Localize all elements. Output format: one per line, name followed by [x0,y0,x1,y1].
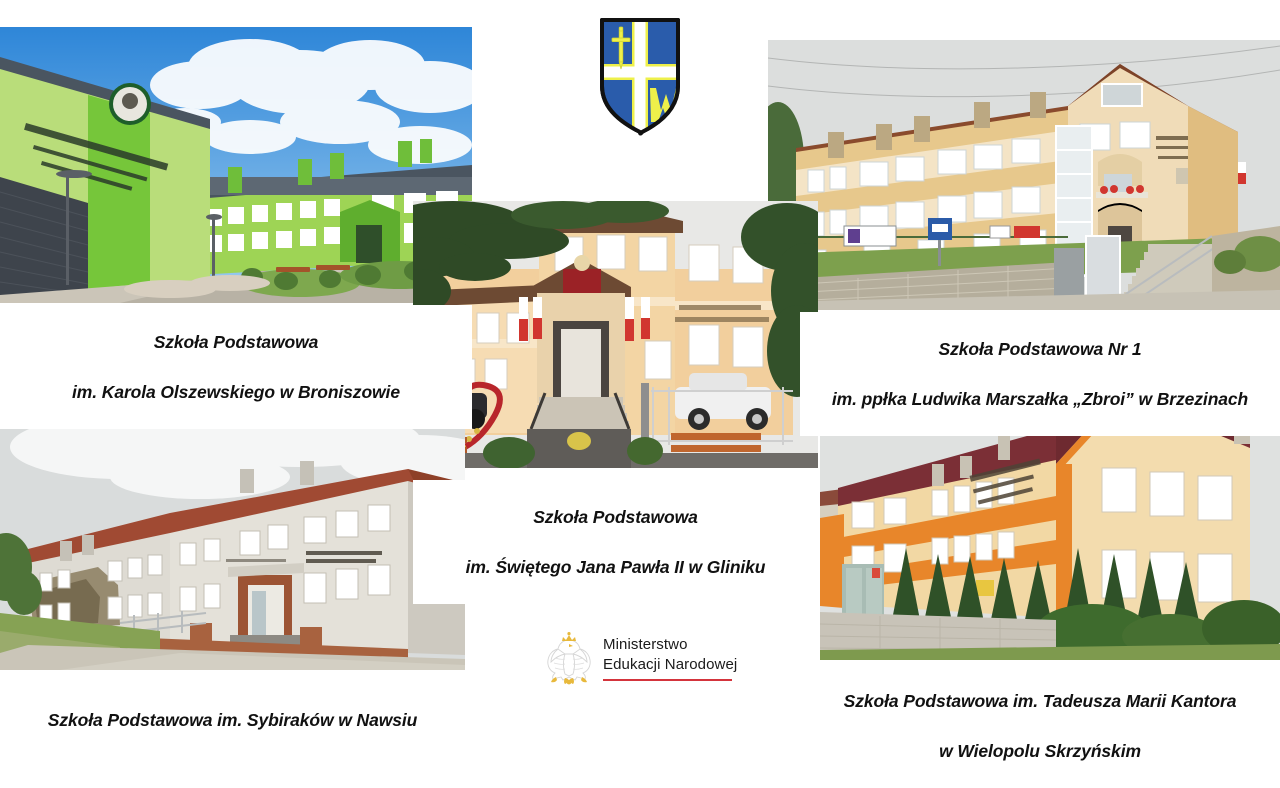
caption-glinik-line2: im. Świętego Jana Pawła II w Gliniku [413,555,818,580]
caption-wielopole-line1: Szkoła Podstawowa im. Tadeusza Marii Kan… [800,689,1280,714]
caption-broniszow: Szkoła Podstawowa im. Karola Olszewskieg… [0,305,472,429]
polish-eagle-icon [543,630,595,686]
photo-broniszow-image [0,27,472,303]
caption-glinik: Szkoła Podstawowa im. Świętego Jana Pawł… [413,480,818,604]
caption-brzeziny: Szkoła Podstawowa Nr 1 im. ppłka Ludwika… [800,312,1280,436]
photo-nawsie-image [0,417,465,670]
photo-glinik-image [413,201,818,468]
caption-wielopole: Szkoła Podstawowa im. Tadeusza Marii Kan… [800,664,1280,788]
photo-broniszow [0,27,472,303]
coat-of-arms-icon [594,14,686,136]
slide-canvas: Szkoła Podstawowa im. Karola Olszewskieg… [0,0,1280,720]
coat-of-arms [594,14,686,136]
caption-brzeziny-line2: im. ppłka Ludwika Marszałka „Zbroi” w Br… [800,387,1280,412]
ministry-logo-line2: Edukacji Narodowej [603,655,737,674]
caption-broniszow-line1: Szkoła Podstawowa [0,330,472,355]
caption-nawsie: Szkoła Podstawowa im. Sybiraków w Nawsiu [0,683,465,758]
photo-brzeziny [768,40,1280,310]
caption-brzeziny-line1: Szkoła Podstawowa Nr 1 [800,337,1280,362]
ministry-logo-line1: Ministerstwo [603,635,737,654]
caption-wielopole-line2: w Wielopolu Skrzyńskim [800,739,1280,764]
ministry-logo-rule [603,679,732,681]
caption-nawsie-line1: Szkoła Podstawowa im. Sybiraków w Nawsiu [0,708,465,733]
photo-brzeziny-image [768,40,1280,310]
caption-glinik-line1: Szkoła Podstawowa [413,505,818,530]
photo-nawsie [0,417,465,670]
photo-glinik [413,201,818,468]
ministry-logo: Ministerstwo Edukacji Narodowej [543,628,743,688]
caption-broniszow-line2: im. Karola Olszewskiego w Broniszowie [0,380,472,405]
